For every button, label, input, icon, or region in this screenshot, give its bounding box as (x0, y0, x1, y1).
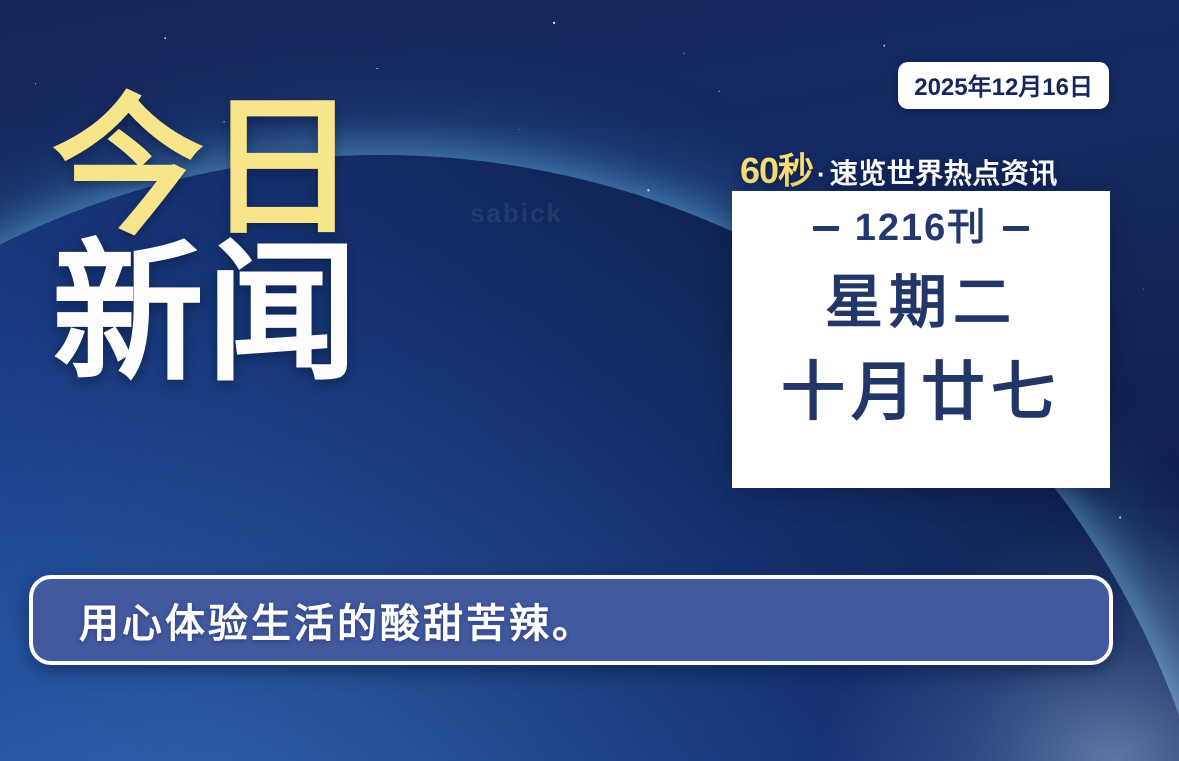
page-title-line-2: 新闻 (52, 244, 472, 384)
watermark: sabick (470, 198, 563, 229)
weekday-label: 星期二 (825, 273, 1017, 331)
page-title: 今日 新闻 (52, 98, 472, 384)
tagline-text: 速览世界热点资讯 (830, 158, 1058, 189)
news-poster: sabick 今日 新闻 2025年12月16日 60秒·速览世界热点资讯 12… (0, 0, 1179, 761)
page-title-line-1: 今日 (52, 98, 472, 238)
tagline: 60秒·速览世界热点资讯 (740, 142, 1120, 194)
date-info-card: 1216刊 星期二 十月廿七 (732, 191, 1110, 488)
tagline-seconds: 60秒 (740, 150, 813, 191)
issue-number: 1216刊 (855, 209, 988, 247)
lunar-date-label: 十月廿七 (781, 361, 1061, 425)
dash-right-icon (1003, 226, 1029, 231)
tagline-separator: · (813, 159, 830, 189)
date-badge: 2025年12月16日 (898, 62, 1109, 109)
quote-banner: 用心体验生活的酸甜苦辣。 (29, 575, 1113, 665)
dash-left-icon (813, 226, 839, 231)
issue-row: 1216刊 (813, 209, 1030, 247)
quote-text: 用心体验生活的酸甜苦辣。 (33, 591, 595, 649)
